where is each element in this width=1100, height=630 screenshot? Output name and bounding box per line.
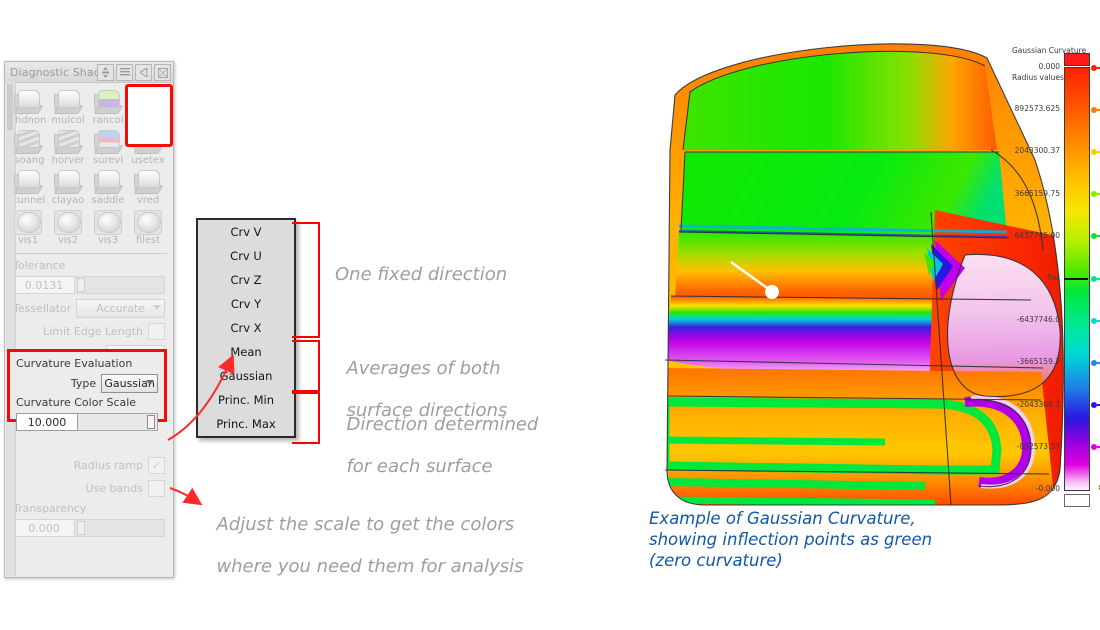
icon-label: vred [137, 195, 159, 207]
tolerance-slider[interactable] [75, 276, 165, 294]
chevron-down-icon [146, 380, 154, 385]
resize-vertical-icon[interactable] [97, 64, 114, 81]
legend-tick-label: -0.000 [1012, 484, 1060, 493]
note-adjust-scale-line-1: Adjust the scale to get the colors [216, 514, 514, 535]
use-bands-row[interactable]: Use bands [13, 478, 165, 498]
menu-item-crv-u[interactable]: Crv U [198, 244, 294, 268]
legend-color-stop-marker[interactable]: ✖ [1091, 357, 1100, 368]
shade-mode-vis3[interactable]: vis3 [88, 208, 128, 247]
shade-mode-vis2[interactable]: vis2 [48, 208, 88, 247]
isoang-icon [11, 128, 45, 156]
shade-mode-clayao[interactable]: clayao [48, 168, 88, 207]
shade-mode-saddle[interactable]: saddle [88, 168, 128, 207]
curvature-type-label: Type [71, 377, 96, 390]
curvature-type-row[interactable]: Type Gaussian [16, 373, 158, 393]
vis1-icon [11, 208, 45, 236]
tolerance-value[interactable]: 0.0131 [13, 276, 75, 294]
saddle-icon [91, 168, 125, 196]
radius-ramp-checkbox[interactable]: ✓ [148, 457, 165, 474]
transparency-value[interactable]: 0.000 [13, 519, 75, 537]
chevron-down-icon [153, 305, 161, 310]
shade-mode-rancol[interactable]: rancol [88, 88, 128, 127]
legend-cap-top [1064, 53, 1090, 66]
icon-label: curevl [133, 115, 164, 127]
icon-row: isoanghorversurevlusetex [8, 128, 170, 168]
caption-line-2: showing inflection points as green [649, 529, 989, 550]
icon-label: usetex [131, 155, 165, 167]
radius-ramp-label: Radius ramp [74, 459, 143, 472]
use-bands-checkbox[interactable] [148, 480, 165, 497]
legend-tick-label: -6437746.0 [1012, 315, 1060, 324]
legend-tick-label: 6437745.00 [1012, 231, 1060, 240]
panel-titlebar[interactable]: Diagnostic Shade [5, 62, 173, 83]
legend-color-stop-marker[interactable]: ✖ [1091, 189, 1100, 200]
curvature-color-scale-row: Curvature Color Scale [16, 395, 158, 410]
limit-edge-length-row[interactable]: Limit Edge Length [13, 321, 165, 341]
tolerance-control[interactable]: 0.0131 [13, 275, 165, 295]
curvature-color-scale-label: Curvature Color Scale [16, 396, 136, 409]
vred-icon [131, 168, 165, 196]
legend-cap-bottom [1064, 494, 1090, 507]
curvature-evaluation-label: Curvature Evaluation [16, 357, 132, 370]
bracket-per-surface [292, 392, 320, 444]
icon-label: mulcol [51, 115, 84, 127]
tessellator-row[interactable]: Tessellator Accurate [13, 298, 165, 318]
icon-label: filest [136, 235, 160, 247]
bracket-fixed-direction [292, 222, 320, 338]
horver-icon [51, 128, 85, 156]
legend-color-stop-marker[interactable]: ✖ [1091, 231, 1100, 242]
legend-color-stop-marker[interactable]: ✖ [1091, 146, 1100, 157]
tolerance-slider-knob[interactable] [77, 278, 85, 292]
curvature-color-scale-knob[interactable] [147, 415, 155, 429]
note-one-fixed-direction: One fixed direction [335, 264, 507, 285]
legend-tick-label: 892573.625 [1012, 104, 1060, 113]
transparency-slider[interactable] [75, 519, 165, 537]
vis2-icon [51, 208, 85, 236]
transparency-label: Transparency [13, 502, 86, 515]
icon-label: vis2 [58, 235, 78, 247]
use-bands-label: Use bands [86, 482, 143, 495]
check-icon: ✓ [152, 459, 161, 472]
curvature-type-select[interactable]: Gaussian [101, 374, 158, 393]
surevl-icon [91, 128, 125, 156]
usetex-icon [131, 128, 165, 156]
vis3-icon [91, 208, 125, 236]
legend-tick-label: flat [1012, 273, 1060, 282]
curvature-type-dropdown-menu[interactable]: Crv VCrv UCrv ZCrv YCrv XMeanGaussianPri… [196, 218, 296, 438]
menu-item-crv-z[interactable]: Crv Z [198, 268, 294, 292]
legend-tick-label: 2043300.37 [1012, 146, 1060, 155]
note-per-surface-line-1: Direction determined [346, 414, 538, 435]
icon-label: clayao [52, 195, 85, 207]
shade-mode-usetex[interactable]: usetex [128, 128, 168, 167]
limit-edge-length-label: Limit Edge Length [43, 325, 143, 338]
shade-mode-curevl[interactable]: curevl [128, 88, 168, 127]
curvature-color-legend: Gaussian Curvature Radius values [mm] 0.… [1012, 28, 1100, 518]
icon-label: rancol [93, 115, 124, 127]
legend-tick-label: -892573.37 [1012, 442, 1060, 451]
diagnostic-shade-panel[interactable]: Diagnostic Shade shdnonmulcolrancolcurev… [4, 61, 174, 578]
shade-mode-icon-grid[interactable]: shdnonmulcolrancolcurevlisoanghorversure… [5, 83, 173, 250]
collapse-left-icon[interactable] [135, 64, 152, 81]
arrow-to-scale-note [170, 488, 199, 503]
note-per-surface: Direction determined for each surface [335, 393, 538, 477]
icon-label: horver [52, 155, 85, 167]
note-averages-line-1: Averages of both [346, 358, 500, 379]
legend-tick-label: 3665159.75 [1012, 189, 1060, 198]
legend-flat-marker [1064, 278, 1088, 280]
icon-row: vis1vis2vis3filest [8, 208, 170, 248]
shade-mode-vred[interactable]: vred [128, 168, 168, 207]
menu-item-mean[interactable]: Mean [198, 340, 294, 364]
panel-title: Diagnostic Shade [5, 66, 108, 79]
tolerance-row: Tolerance [13, 258, 165, 272]
curevl-icon [131, 88, 165, 116]
curvature-settings-highlight[interactable]: Curvature Evaluation Type Gaussian Curva… [7, 349, 167, 422]
legend-color-stop-marker[interactable]: ✖ [1091, 442, 1100, 453]
shade-mode-horver[interactable]: horver [48, 128, 88, 167]
caption-line-1: Example of Gaussian Curvature, [649, 508, 989, 529]
tessellator-select[interactable]: Accurate [76, 299, 165, 318]
rancol-icon [91, 88, 125, 116]
curvature-color-scale-value[interactable]: 10.000 [16, 413, 78, 431]
curvature-color-scale-slider[interactable] [78, 413, 158, 431]
radius-ramp-row[interactable]: Radius ramp ✓ [13, 455, 165, 475]
menu-item-crv-v[interactable]: Crv V [198, 220, 294, 244]
transparency-control[interactable]: 0.000 [13, 518, 165, 538]
panel-scroll-track[interactable] [6, 82, 16, 576]
shade-mode-surevl[interactable]: surevl [88, 128, 128, 167]
tolerance-label: Tolerance [13, 259, 65, 272]
figure-caption: Example of Gaussian Curvature, showing i… [649, 508, 989, 571]
filest-icon [131, 208, 165, 236]
legend-color-stop-marker[interactable]: ✖ [1091, 104, 1100, 115]
transparency-slider-knob[interactable] [77, 521, 85, 535]
tessellator-value: Accurate [96, 302, 145, 315]
menu-item-crv-y[interactable]: Crv Y [198, 292, 294, 316]
menu-item-gaussian[interactable]: Gaussian [198, 364, 294, 388]
limit-edge-length-checkbox[interactable] [148, 323, 165, 340]
legend-tick-label: -3665159.7 [1012, 357, 1060, 366]
icon-label: surevl [93, 155, 123, 167]
menu-item-crv-x[interactable]: Crv X [198, 316, 294, 340]
menu-item-princ-min[interactable]: Princ. Min [198, 388, 294, 412]
legend-color-stop-marker[interactable]: ✖ [1091, 315, 1100, 326]
shade-mode-mulcol[interactable]: mulcol [48, 88, 88, 127]
tessellator-label: Tessellator [13, 302, 71, 315]
note-per-surface-line-2: for each surface [346, 456, 492, 477]
legend-color-stop-marker[interactable]: ✖ [1091, 273, 1100, 284]
icon-label: vis1 [18, 235, 38, 247]
legend-color-stop-marker[interactable]: ✖ [1091, 62, 1100, 73]
legend-tick-label: 0.000 [1012, 62, 1060, 71]
menu-icon[interactable] [116, 64, 133, 81]
close-icon[interactable] [154, 64, 171, 81]
icon-label: saddle [92, 195, 125, 207]
icon-label: isoang [12, 155, 45, 167]
legend-tick-label: -2043300.3 [1012, 400, 1060, 409]
icon-row: shdnonmulcolrancolcurevl [8, 88, 170, 128]
transparency-row: Transparency [13, 501, 165, 515]
menu-item-princ-max[interactable]: Princ. Max [198, 412, 294, 436]
mulcol-icon [51, 88, 85, 116]
icon-label: vis3 [98, 235, 118, 247]
shade-mode-filest[interactable]: filest [128, 208, 168, 247]
clayao-icon [51, 168, 85, 196]
icon-row: ltunnelclayaosaddlevred [8, 168, 170, 208]
note-adjust-scale-line-2: where you need them for analysis [216, 556, 523, 577]
titlebar-buttons[interactable] [97, 64, 171, 81]
curvature-evaluation-row: Curvature Evaluation [16, 355, 158, 371]
curvature-color-scale-control[interactable]: 10.000 [16, 412, 158, 432]
note-adjust-scale: Adjust the scale to get the colors where… [205, 493, 524, 577]
bracket-averages [292, 340, 320, 392]
legend-color-stop-marker[interactable]: ✖ [1091, 400, 1100, 411]
ltunnel-icon [11, 168, 45, 196]
caption-line-3: (zero curvature) [649, 550, 989, 571]
shdnon-icon [11, 88, 45, 116]
